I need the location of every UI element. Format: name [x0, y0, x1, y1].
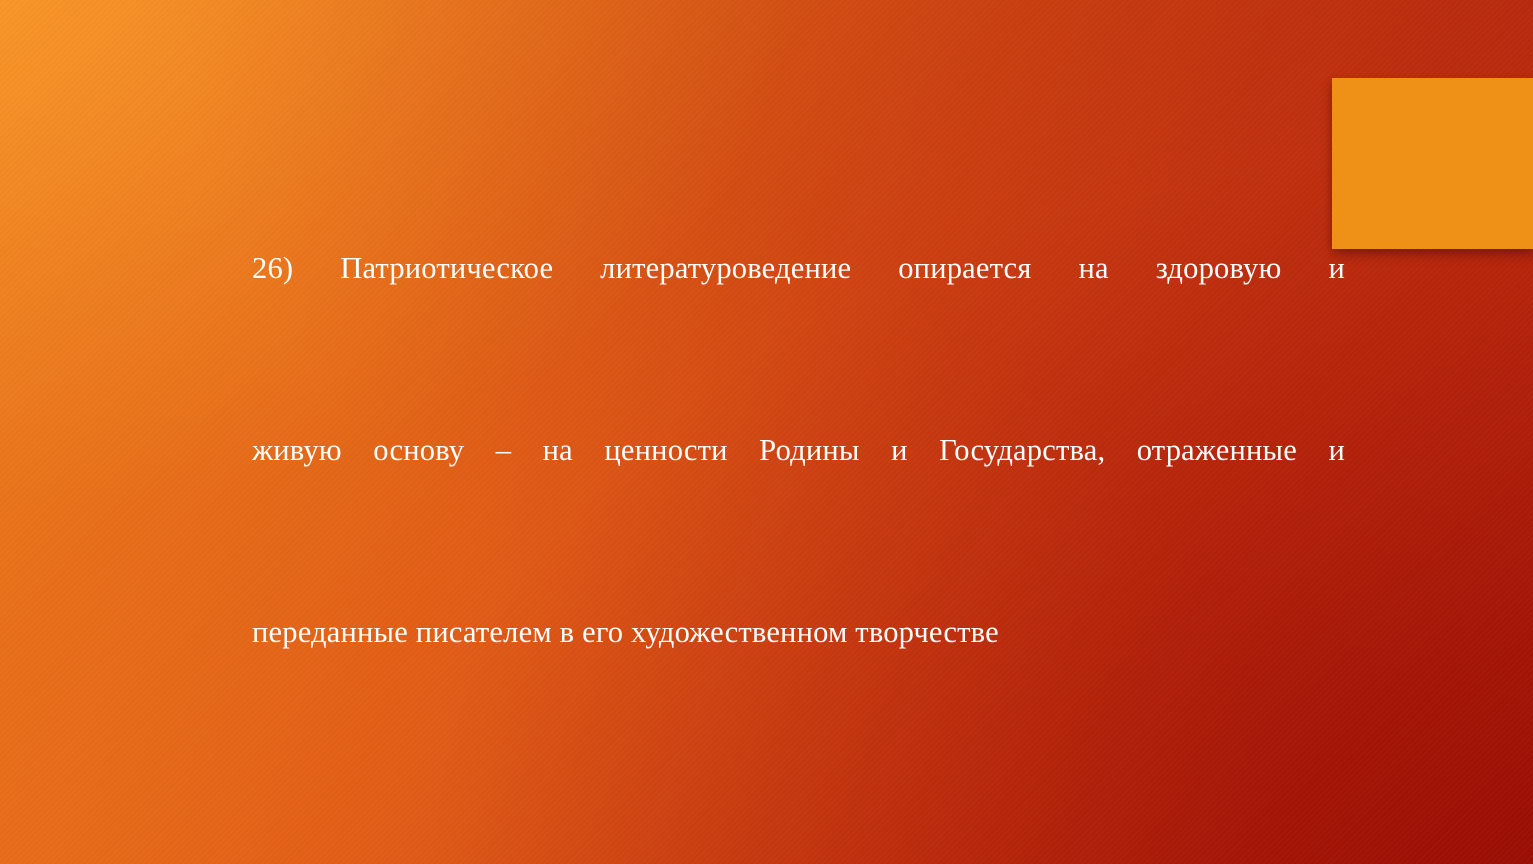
amber-rectangle-decoration: [1332, 78, 1533, 249]
presentation-slide: 26) Патриотическое литературоведение опи…: [0, 0, 1533, 864]
body-text-line-3: переданные писателем в его художественно…: [252, 610, 1345, 656]
body-text-line-2: живую основу – на ценности Родины и Госу…: [252, 428, 1345, 519]
body-text-line-1: 26) Патриотическое литературоведение опи…: [252, 246, 1345, 337]
slide-body-text: 26) Патриотическое литературоведение опи…: [252, 155, 1345, 747]
